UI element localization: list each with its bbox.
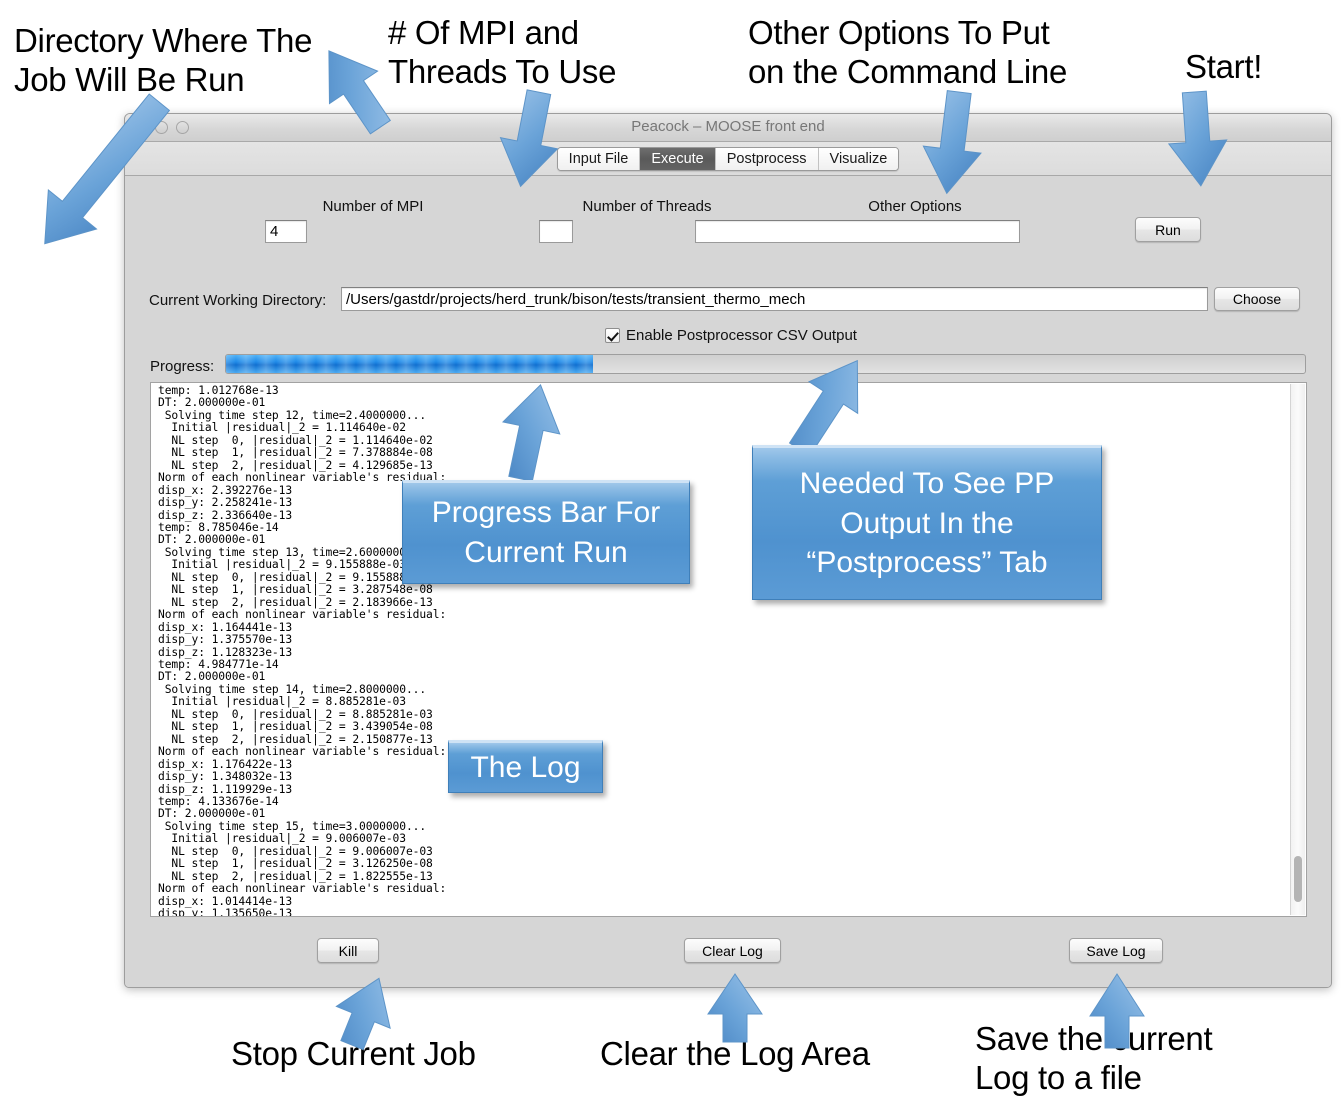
tab-execute[interactable]: Execute [640, 148, 715, 170]
arrow-to-csv-checkbox [775, 330, 895, 460]
peacock-window: Peacock – MOOSE front end Input File Exe… [124, 113, 1332, 988]
label-number-of-threads: Number of Threads [557, 198, 737, 215]
arrow-to-cwd [118, 100, 258, 300]
execute-panel: Number of MPI Number of Threads Other Op… [125, 176, 1331, 987]
annotation-start: Start! [1185, 48, 1262, 87]
threads-input[interactable] [539, 220, 573, 243]
tab-visualize[interactable]: Visualize [819, 148, 899, 170]
annotation-directory: Directory Where The Job Will Be Run [14, 22, 312, 100]
log-text: temp: 1.012768e-13 DT: 2.000000e-01 Solv… [158, 385, 446, 917]
callout-progress-bar-text: Progress Bar For Current Run [432, 493, 660, 572]
choose-button[interactable]: Choose [1214, 287, 1300, 311]
log-scrollbar-thumb[interactable] [1294, 856, 1302, 902]
log-scrollbar[interactable] [1290, 384, 1305, 915]
kill-button[interactable]: Kill [317, 938, 379, 963]
arrow-to-other-options [918, 92, 998, 207]
arrow-to-mpi [310, 90, 440, 210]
mpi-input[interactable]: 4 [265, 220, 307, 243]
arrow-to-run [1155, 92, 1235, 202]
clear-log-button[interactable]: Clear Log [684, 938, 781, 963]
tab-postprocess[interactable]: Postprocess [716, 148, 819, 170]
annotation-mpi-threads: # Of MPI and Threads To Use [388, 14, 616, 92]
tab-group: Input File Execute Postprocess Visualize [557, 147, 900, 171]
arrow-to-progress-bar [492, 370, 572, 480]
annotation-other-options: Other Options To Put on the Command Line [748, 14, 1067, 92]
save-log-button[interactable]: Save Log [1069, 938, 1163, 963]
other-options-input[interactable] [695, 220, 1020, 243]
window-titlebar[interactable]: Peacock – MOOSE front end [125, 114, 1331, 142]
tab-bar: Input File Execute Postprocess Visualize [125, 142, 1331, 176]
log-output-area[interactable]: temp: 1.012768e-13 DT: 2.000000e-01 Solv… [150, 382, 1307, 917]
label-progress: Progress: [150, 358, 214, 375]
arrow-to-save-log-button [1082, 968, 1152, 1048]
window-title: Peacock – MOOSE front end [125, 118, 1331, 135]
callout-the-log: The Log [448, 740, 603, 793]
callout-postprocess: Needed To See PP Output In the “Postproc… [752, 445, 1102, 600]
arrow-to-kill-button [322, 968, 412, 1048]
arrow-to-threads [497, 92, 577, 202]
callout-postprocess-text: Needed To See PP Output In the “Postproc… [800, 464, 1055, 583]
cwd-input[interactable]: /Users/gastdr/projects/herd_trunk/bison/… [341, 287, 1208, 311]
run-button[interactable]: Run [1135, 217, 1201, 242]
callout-progress-bar: Progress Bar For Current Run [402, 480, 690, 584]
callout-the-log-text: The Log [470, 748, 580, 788]
arrow-to-clear-log-button [700, 968, 770, 1043]
progress-bar [225, 354, 1306, 374]
checkbox-icon[interactable] [605, 328, 620, 343]
